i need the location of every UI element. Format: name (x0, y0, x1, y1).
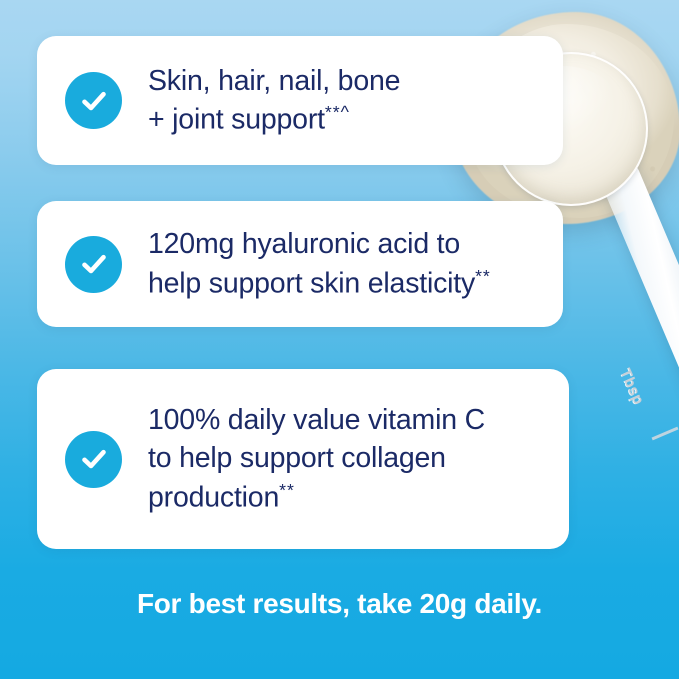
benefit-card: 100% daily value vitamin C to help suppo… (37, 369, 569, 549)
benefit-line-1: 100% daily value vitamin C (148, 404, 485, 436)
promo-graphic: Tbsp Skin, hair, nail, bone + joint supp… (0, 0, 679, 679)
benefit-line-3: production (148, 482, 279, 514)
benefit-line-2: + joint support (148, 104, 325, 136)
usage-note: For best results, take 20g daily. (0, 588, 679, 620)
benefit-text: Skin, hair, nail, bone + joint support**… (148, 62, 412, 140)
benefit-line-1: Skin, hair, nail, bone (148, 65, 400, 97)
benefit-card: Skin, hair, nail, bone + joint support**… (37, 36, 563, 165)
benefit-superscript: ** (475, 266, 491, 286)
benefit-line-2: help support skin elasticity (148, 267, 475, 299)
check-circle-icon (65, 72, 122, 129)
scoop-handle-label: Tbsp (616, 366, 647, 407)
benefit-text: 100% daily value vitamin C to help suppo… (148, 401, 497, 518)
check-circle-icon (65, 236, 122, 293)
benefit-line-2: to help support collagen (148, 442, 446, 474)
scoop-handle-notch (652, 427, 679, 441)
benefit-superscript: ** (279, 480, 295, 500)
benefit-superscript: **^ (325, 102, 350, 122)
scoop-handle (596, 156, 679, 475)
check-circle-icon (65, 431, 122, 488)
benefit-text: 120mg hyaluronic acid to help support sk… (148, 225, 503, 303)
benefit-card: 120mg hyaluronic acid to help support sk… (37, 201, 563, 327)
benefit-line-1: 120mg hyaluronic acid to (148, 228, 460, 260)
